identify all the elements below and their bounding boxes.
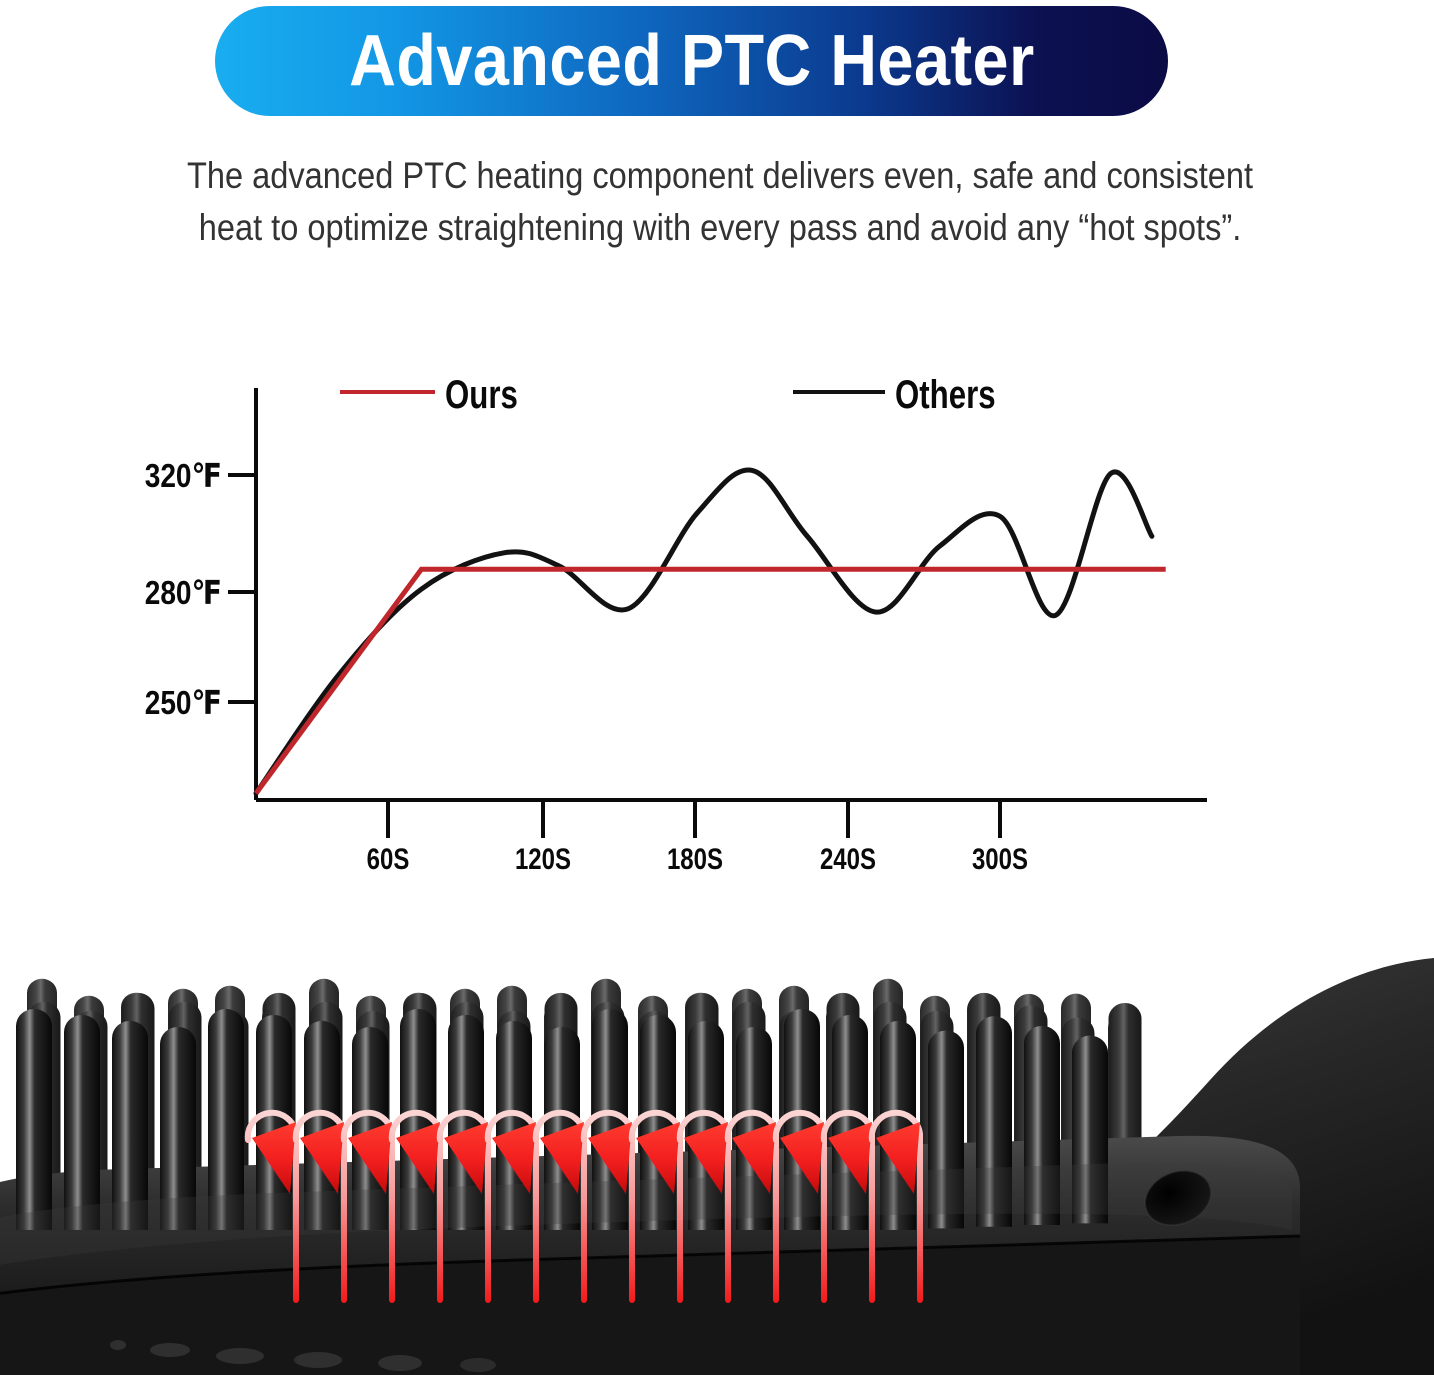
- legend-label-others: Others: [895, 375, 1024, 415]
- x-axis-label-240s: 240S: [793, 845, 903, 875]
- temperature-chart: Ours Others 320℉ 280℉ 250℉ 60S 120S 180S…: [0, 330, 1434, 890]
- series-line-ours: [256, 569, 1166, 793]
- y-axis-label-280: 280℉: [112, 576, 222, 609]
- x-axis-label-180s: 180S: [640, 845, 750, 875]
- description-line-1: The advanced PTC heating component deliv…: [135, 150, 1305, 202]
- x-axis-label-120s: 120S: [488, 845, 598, 875]
- y-axis-label-320: 320℉: [112, 459, 222, 492]
- page-title: Advanced PTC Heater: [349, 25, 1035, 97]
- description-line-2: heat to optimize straightening with ever…: [135, 202, 1305, 254]
- x-axis-label-300s: 300S: [945, 845, 1055, 875]
- description-text: The advanced PTC heating component deliv…: [55, 150, 1385, 254]
- y-axis-label-250: 250℉: [112, 686, 222, 719]
- legend-label-ours: Ours: [445, 375, 538, 415]
- series-line-others: [256, 470, 1152, 793]
- x-axis-label-60s: 60S: [333, 845, 443, 875]
- product-illustration: [0, 930, 1434, 1375]
- header-banner: Advanced PTC Heater: [215, 6, 1168, 116]
- product-image-hair-straightening-brush: [0, 930, 1434, 1375]
